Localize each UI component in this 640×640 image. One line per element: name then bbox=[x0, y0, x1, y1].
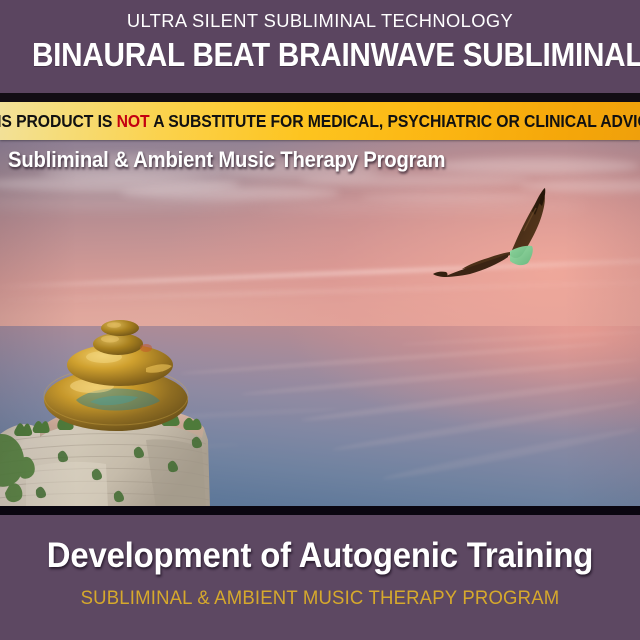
album-title: Development of Autogenic Training bbox=[19, 536, 621, 576]
eagle-icon bbox=[424, 185, 594, 295]
album-cover: ULTRA SILENT SUBLIMINAL TECHNOLOGY BINAU… bbox=[0, 0, 640, 640]
disclaimer-text-before: THIS PRODUCT IS bbox=[0, 111, 117, 131]
disclaimer-text: THIS PRODUCT IS NOT A SUBSTITUTE FOR MED… bbox=[0, 111, 640, 132]
footer-bar: Development of Autogenic Training SUBLIM… bbox=[0, 515, 640, 640]
album-subtitle: SUBLIMINAL & AMBIENT MUSIC THERAPY PROGR… bbox=[16, 587, 624, 610]
cliff-with-zen-stones bbox=[0, 308, 232, 508]
disclaimer-text-after: A SUBSTITUTE FOR MEDICAL, PSYCHIATRIC OR… bbox=[150, 111, 640, 131]
disclaimer-emphasis-not: NOT bbox=[117, 111, 150, 131]
medical-disclaimer-banner: THIS PRODUCT IS NOT A SUBSTITUTE FOR MED… bbox=[0, 102, 640, 140]
top-header-bar: ULTRA SILENT SUBLIMINAL TECHNOLOGY BINAU… bbox=[0, 0, 640, 93]
footer-divider bbox=[0, 506, 640, 515]
brand-tagline: ULTRA SILENT SUBLIMINAL TECHNOLOGY bbox=[3, 10, 637, 32]
cloud-icon bbox=[0, 198, 260, 208]
cloud-icon bbox=[430, 158, 640, 174]
artwork-overlay-subtitle: Subliminal & Ambient Music Therapy Progr… bbox=[8, 147, 445, 173]
cover-artwork bbox=[0, 140, 640, 508]
brand-headline: BINAURAL BEAT BRAINWAVE SUBLIMINAL SYSTE… bbox=[32, 36, 608, 74]
header-divider bbox=[0, 93, 640, 102]
